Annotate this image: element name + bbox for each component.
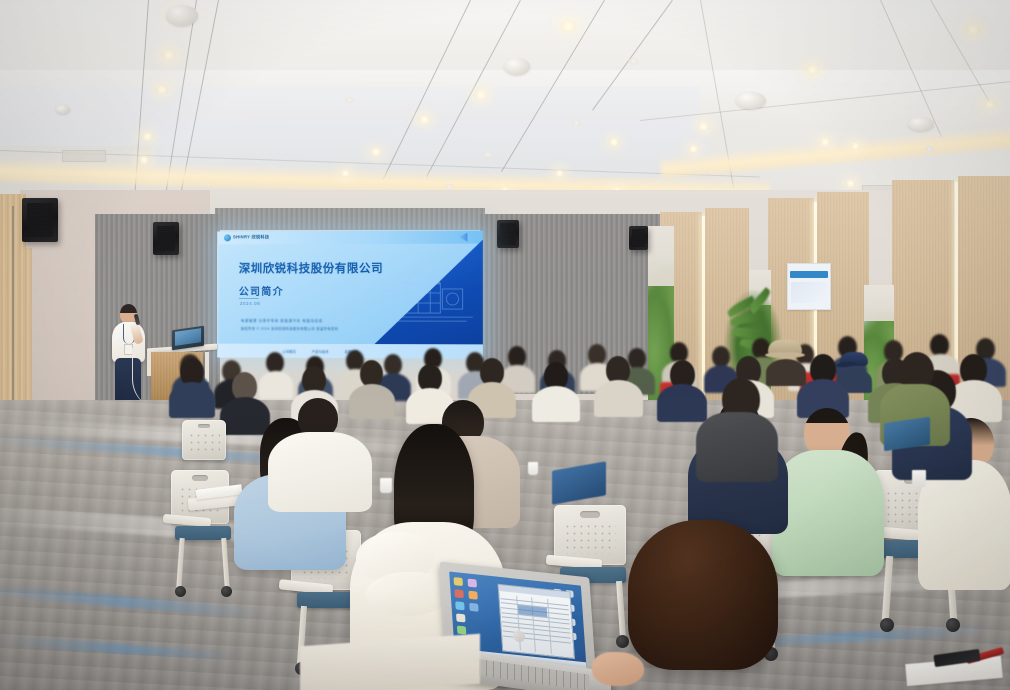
paper-cup (528, 462, 538, 475)
air-vent (62, 150, 106, 162)
chair-perforation (188, 432, 220, 453)
ceiling-downlight (697, 122, 710, 131)
audience-head (360, 360, 383, 387)
desktop-icon[interactable] (469, 603, 479, 612)
ceiling-downlight (340, 170, 351, 177)
company-logo: SHINRY 欣锐科技 (224, 234, 269, 241)
ceiling-downlight (554, 170, 565, 177)
ceiling-downlight (850, 142, 861, 150)
audience-shoulder (532, 386, 580, 422)
chair-leg (176, 538, 184, 588)
ceiling-downlight (560, 20, 577, 32)
selected-cell-range[interactable] (518, 605, 547, 617)
logo-mark-icon (224, 234, 231, 241)
desktop-icon[interactable] (457, 626, 467, 635)
wall-speaker (22, 198, 58, 242)
ceiling-downlight (474, 90, 488, 100)
slide-technical-illustration (380, 261, 477, 332)
chair-caster (221, 586, 232, 597)
hair (628, 520, 778, 670)
paper-cup (380, 478, 392, 493)
slide-footer-line-1: 电源管理 功率半导体 新能源汽车 电驱动总成 (241, 319, 323, 324)
smoke-detector-icon (166, 5, 198, 26)
ceiling-downlight (983, 100, 996, 109)
audience-laptop[interactable] (552, 466, 608, 502)
ceiling-downlight (805, 65, 820, 75)
ceiling-downlight (819, 138, 831, 146)
ceiling-downlight (141, 132, 154, 141)
audience-shoulder (594, 380, 643, 417)
notice-header-band (790, 271, 829, 278)
smoke-detector-icon (504, 58, 530, 75)
slide-subtitle: 公司简介 (239, 283, 284, 298)
wall-speaker (497, 220, 519, 248)
ceiling-downlight (418, 115, 431, 124)
slide-date: 2024.08 (240, 301, 261, 306)
training-chair[interactable] (178, 420, 234, 510)
slide-title: 深圳欣锐科技股份有限公司 (239, 260, 383, 276)
ceiling-downlight (161, 50, 176, 60)
chair-handle (580, 511, 600, 518)
chair-caster (880, 618, 894, 632)
chair-leg (221, 538, 229, 588)
smoke-detector-icon (736, 92, 766, 109)
audience-member-grey-tee (696, 378, 782, 482)
ceiling-downlight (965, 24, 981, 35)
desktop-icon[interactable] (454, 577, 464, 586)
ceiling-downlight (370, 148, 382, 156)
wall-speaker (629, 226, 648, 250)
chair-back (182, 420, 226, 460)
spreadsheet-window[interactable] (497, 583, 575, 659)
notice-body (791, 282, 826, 303)
chair-caster (175, 586, 186, 597)
wall-speaker (153, 222, 179, 255)
desktop-icon[interactable] (454, 589, 464, 598)
audience-torso (696, 412, 778, 482)
desktop-icon[interactable] (455, 601, 465, 610)
chair-handle (198, 424, 210, 428)
wood-slat-wall-left (12, 248, 32, 420)
hand-on-laptop (592, 652, 644, 686)
logo-text: SHINRY 欣锐科技 (233, 234, 269, 240)
wall-notice-board (787, 263, 831, 310)
lectern-leg (147, 352, 151, 376)
desktop-icon[interactable] (456, 613, 466, 622)
paper-cup (912, 470, 926, 487)
acoustic-rib-wall (215, 208, 485, 230)
audience-laptop[interactable] (884, 420, 932, 450)
blouse-ruffle (366, 572, 450, 616)
ceiling-downlight (608, 138, 620, 146)
desktop-icon[interactable] (468, 591, 478, 600)
ceiling-downlight (155, 85, 169, 94)
smoke-detector-icon (56, 105, 70, 114)
chair-caster (946, 618, 960, 632)
ceiling-downlight (138, 156, 150, 164)
smoke-detector-icon (908, 117, 934, 131)
window-title-bar[interactable] (498, 585, 570, 599)
audience-shoulder (169, 382, 215, 418)
conference-room-photo: SHINRY 欣锐科技 深圳欣锐科技股份 (0, 0, 1010, 690)
ceiling-downlight (845, 180, 856, 187)
ceiling-downlight (688, 145, 699, 153)
ceiling (0, 0, 1010, 215)
desktop-icon[interactable] (467, 579, 477, 588)
